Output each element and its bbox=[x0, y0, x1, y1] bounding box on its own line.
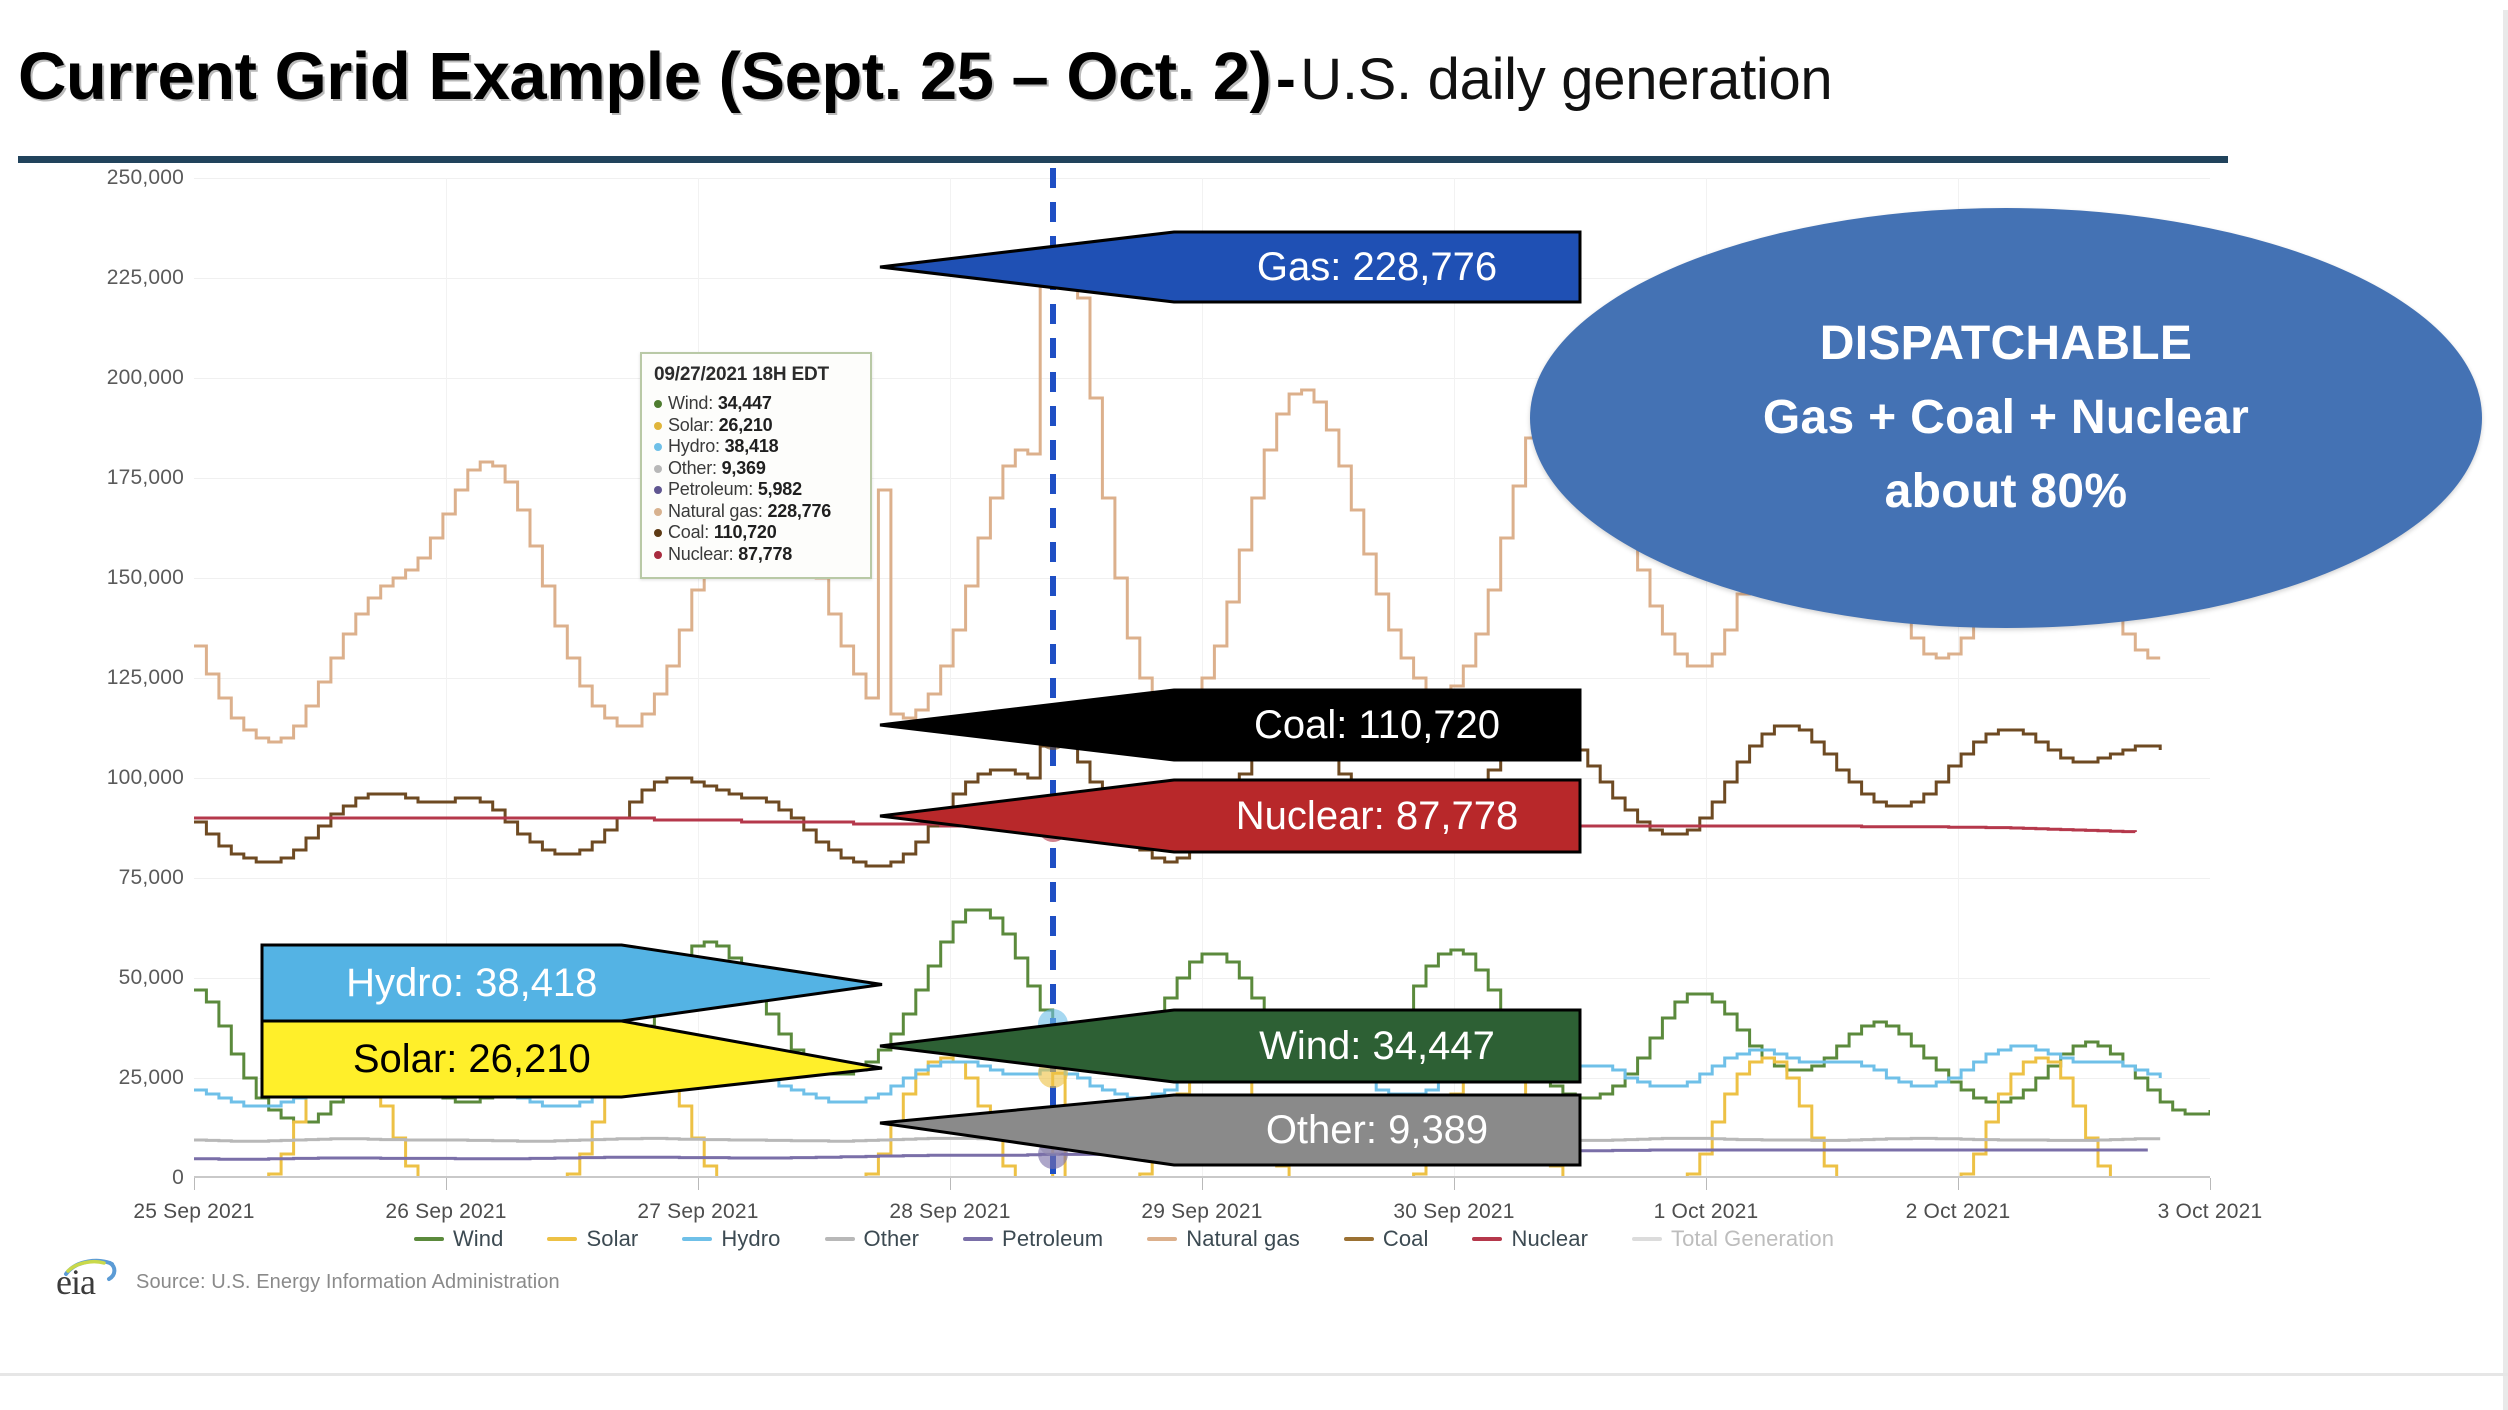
tooltip-value: 5,982 bbox=[758, 479, 802, 499]
tooltip-label: Natural gas: bbox=[668, 501, 767, 521]
title-subtitle: U.S. daily generation bbox=[1300, 47, 1832, 112]
callout-wind: Wind: 34,447 bbox=[880, 1010, 1580, 1082]
x-axis-tick-mark bbox=[446, 1178, 447, 1190]
tooltip-color-dot bbox=[654, 400, 662, 408]
tooltip-value: 26,210 bbox=[719, 415, 773, 435]
y-axis-tick-label: 150,000 bbox=[14, 566, 184, 590]
y-axis-tick-label: 100,000 bbox=[14, 766, 184, 790]
x-axis-tick-label: 25 Sep 2021 bbox=[133, 1200, 254, 1224]
y-axis-tick-label: 175,000 bbox=[14, 466, 184, 490]
legend-label: Solar bbox=[586, 1226, 638, 1252]
tooltip-row: Natural gas: 228,776 bbox=[654, 501, 858, 523]
tooltip-label: Coal: bbox=[668, 522, 714, 542]
tooltip-row: Nuclear: 87,778 bbox=[654, 544, 858, 566]
ellipse-line-2: Gas + Coal + Nuclear bbox=[1763, 381, 2249, 455]
tooltip-value: 87,778 bbox=[738, 544, 792, 564]
y-axis-tick-label: 225,000 bbox=[14, 266, 184, 290]
x-axis-tick-label: 30 Sep 2021 bbox=[1393, 1200, 1514, 1224]
bottom-divider bbox=[0, 1373, 2508, 1376]
tooltip-label: Nuclear: bbox=[668, 544, 738, 564]
legend-item-hydro[interactable]: Hydro bbox=[682, 1226, 780, 1252]
legend-item-wind[interactable]: Wind bbox=[414, 1226, 504, 1252]
tooltip-color-dot bbox=[654, 486, 662, 494]
x-axis-tick-label: 28 Sep 2021 bbox=[889, 1200, 1010, 1224]
callout-label: Hydro: 38,418 bbox=[292, 945, 652, 1021]
tooltip-label: Hydro: bbox=[668, 436, 725, 456]
callout-label: Coal: 110,720 bbox=[1184, 690, 1570, 760]
tooltip-color-dot bbox=[654, 508, 662, 516]
tooltip-value: 110,720 bbox=[714, 522, 777, 542]
eia-logo-icon: eia bbox=[56, 1258, 118, 1298]
tooltip-row: Other: 9,369 bbox=[654, 458, 858, 480]
legend-label: Total Generation bbox=[1671, 1226, 1834, 1252]
legend-swatch bbox=[1472, 1237, 1502, 1241]
callout-solar: Solar: 26,210 bbox=[262, 1021, 882, 1097]
y-axis-tick-label: 0 bbox=[14, 1166, 184, 1190]
tooltip-label: Other: bbox=[668, 458, 722, 478]
legend-label: Coal bbox=[1383, 1226, 1429, 1252]
x-axis-tick-label: 29 Sep 2021 bbox=[1141, 1200, 1262, 1224]
x-axis-tick-mark bbox=[1454, 1178, 1455, 1190]
tooltip-color-dot bbox=[654, 443, 662, 451]
tooltip-color-dot bbox=[654, 465, 662, 473]
callout-other: Other: 9,389 bbox=[880, 1095, 1580, 1165]
chart-legend: WindSolarHydroOtherPetroleumNatural gasC… bbox=[18, 1222, 2230, 1256]
chart-tooltip: 09/27/2021 18H EDT Wind: 34,447Solar: 26… bbox=[640, 352, 872, 579]
callout-label: Nuclear: 87,778 bbox=[1184, 780, 1570, 852]
x-axis-tick-mark bbox=[1958, 1178, 1959, 1190]
x-axis-tick-label: 26 Sep 2021 bbox=[385, 1200, 506, 1224]
legend-item-petroleum[interactable]: Petroleum bbox=[963, 1226, 1103, 1252]
callout-coal: Coal: 110,720 bbox=[880, 690, 1580, 760]
callout-label: Gas: 228,776 bbox=[1184, 232, 1570, 302]
x-axis-tick-mark bbox=[950, 1178, 951, 1190]
legend-swatch bbox=[1147, 1237, 1177, 1241]
tooltip-label: Wind: bbox=[668, 393, 718, 413]
tooltip-row: Hydro: 38,418 bbox=[654, 436, 858, 458]
tooltip-color-dot bbox=[654, 551, 662, 559]
legend-swatch bbox=[414, 1237, 444, 1241]
x-axis-tick-label: 27 Sep 2021 bbox=[637, 1200, 758, 1224]
ellipse-line-3: about 80% bbox=[1885, 455, 2128, 529]
callout-label: Solar: 26,210 bbox=[292, 1021, 652, 1097]
tooltip-value: 38,418 bbox=[725, 436, 779, 456]
legend-item-nuclear[interactable]: Nuclear bbox=[1472, 1226, 1588, 1252]
callout-hydro: Hydro: 38,418 bbox=[262, 945, 882, 1021]
tooltip-row: Wind: 34,447 bbox=[654, 393, 858, 415]
legend-label: Natural gas bbox=[1186, 1226, 1300, 1252]
tooltip-color-dot bbox=[654, 529, 662, 537]
callout-gas: Gas: 228,776 bbox=[880, 232, 1580, 302]
legend-swatch bbox=[825, 1237, 855, 1241]
legend-label: Hydro bbox=[721, 1226, 780, 1252]
y-axis-tick-label: 75,000 bbox=[14, 866, 184, 890]
eia-logo-text: eia bbox=[56, 1264, 95, 1300]
page-title: Current Grid Example (Sept. 25 – Oct. 2)… bbox=[18, 38, 2298, 130]
legend-item-natural-gas[interactable]: Natural gas bbox=[1147, 1226, 1300, 1252]
x-axis-tick-mark bbox=[698, 1178, 699, 1190]
y-axis-tick-label: 25,000 bbox=[14, 1066, 184, 1090]
title-dash: - bbox=[1276, 45, 1296, 112]
legend-label: Petroleum bbox=[1002, 1226, 1103, 1252]
legend-item-total-generation[interactable]: Total Generation bbox=[1632, 1226, 1834, 1252]
tooltip-rows: Wind: 34,447Solar: 26,210Hydro: 38,418Ot… bbox=[654, 393, 858, 565]
callout-nuclear: Nuclear: 87,778 bbox=[880, 780, 1580, 852]
legend-swatch bbox=[682, 1237, 712, 1241]
dispatchable-callout-ellipse: DISPATCHABLE Gas + Coal + Nuclear about … bbox=[1530, 208, 2482, 628]
legend-label: Nuclear bbox=[1511, 1226, 1588, 1252]
legend-swatch bbox=[1344, 1237, 1374, 1241]
tooltip-row: Petroleum: 5,982 bbox=[654, 479, 858, 501]
tooltip-label: Solar: bbox=[668, 415, 719, 435]
tooltip-value: 34,447 bbox=[718, 393, 772, 413]
y-axis-tick-label: 50,000 bbox=[14, 966, 184, 990]
x-axis-tick-label: 3 Oct 2021 bbox=[2158, 1200, 2263, 1224]
legend-item-solar[interactable]: Solar bbox=[547, 1226, 638, 1252]
title-underline-rule bbox=[18, 156, 2228, 163]
x-axis-tick-label: 1 Oct 2021 bbox=[1654, 1200, 1759, 1224]
legend-swatch bbox=[963, 1237, 993, 1241]
y-axis-tick-label: 250,000 bbox=[14, 166, 184, 190]
right-edge-divider bbox=[2503, 10, 2508, 1410]
tooltip-timestamp: 09/27/2021 18H EDT bbox=[654, 364, 858, 386]
tooltip-color-dot bbox=[654, 422, 662, 430]
legend-swatch bbox=[547, 1237, 577, 1241]
source-attribution: eia Source: U.S. Energy Information Admi… bbox=[56, 1258, 560, 1298]
tooltip-value: 228,776 bbox=[767, 501, 831, 521]
title-main: Current Grid Example (Sept. 25 – Oct. 2) bbox=[18, 39, 1271, 114]
tooltip-value: 9,369 bbox=[722, 458, 766, 478]
slide-canvas: Current Grid Example (Sept. 25 – Oct. 2)… bbox=[0, 0, 2508, 1410]
legend-swatch bbox=[1632, 1237, 1662, 1241]
tooltip-label: Petroleum: bbox=[668, 479, 758, 499]
source-text: Source: U.S. Energy Information Administ… bbox=[136, 1271, 560, 1298]
y-axis-tick-label: 200,000 bbox=[14, 366, 184, 390]
legend-item-other[interactable]: Other bbox=[825, 1226, 920, 1252]
x-axis-tick-mark bbox=[1706, 1178, 1707, 1190]
ellipse-line-1: DISPATCHABLE bbox=[1820, 307, 2192, 381]
callout-label: Wind: 34,447 bbox=[1184, 1010, 1570, 1082]
legend-label: Other bbox=[864, 1226, 920, 1252]
x-axis-tick-mark bbox=[194, 1178, 195, 1190]
tooltip-row: Coal: 110,720 bbox=[654, 522, 858, 544]
x-axis-tick-label: 2 Oct 2021 bbox=[1906, 1200, 2011, 1224]
x-axis-tick-mark bbox=[2210, 1178, 2211, 1190]
legend-label: Wind bbox=[453, 1226, 504, 1252]
legend-item-coal[interactable]: Coal bbox=[1344, 1226, 1429, 1252]
x-axis-tick-mark bbox=[1202, 1178, 1203, 1190]
callout-label: Other: 9,389 bbox=[1184, 1095, 1570, 1165]
tooltip-row: Solar: 26,210 bbox=[654, 415, 858, 437]
y-axis-tick-label: 125,000 bbox=[14, 666, 184, 690]
